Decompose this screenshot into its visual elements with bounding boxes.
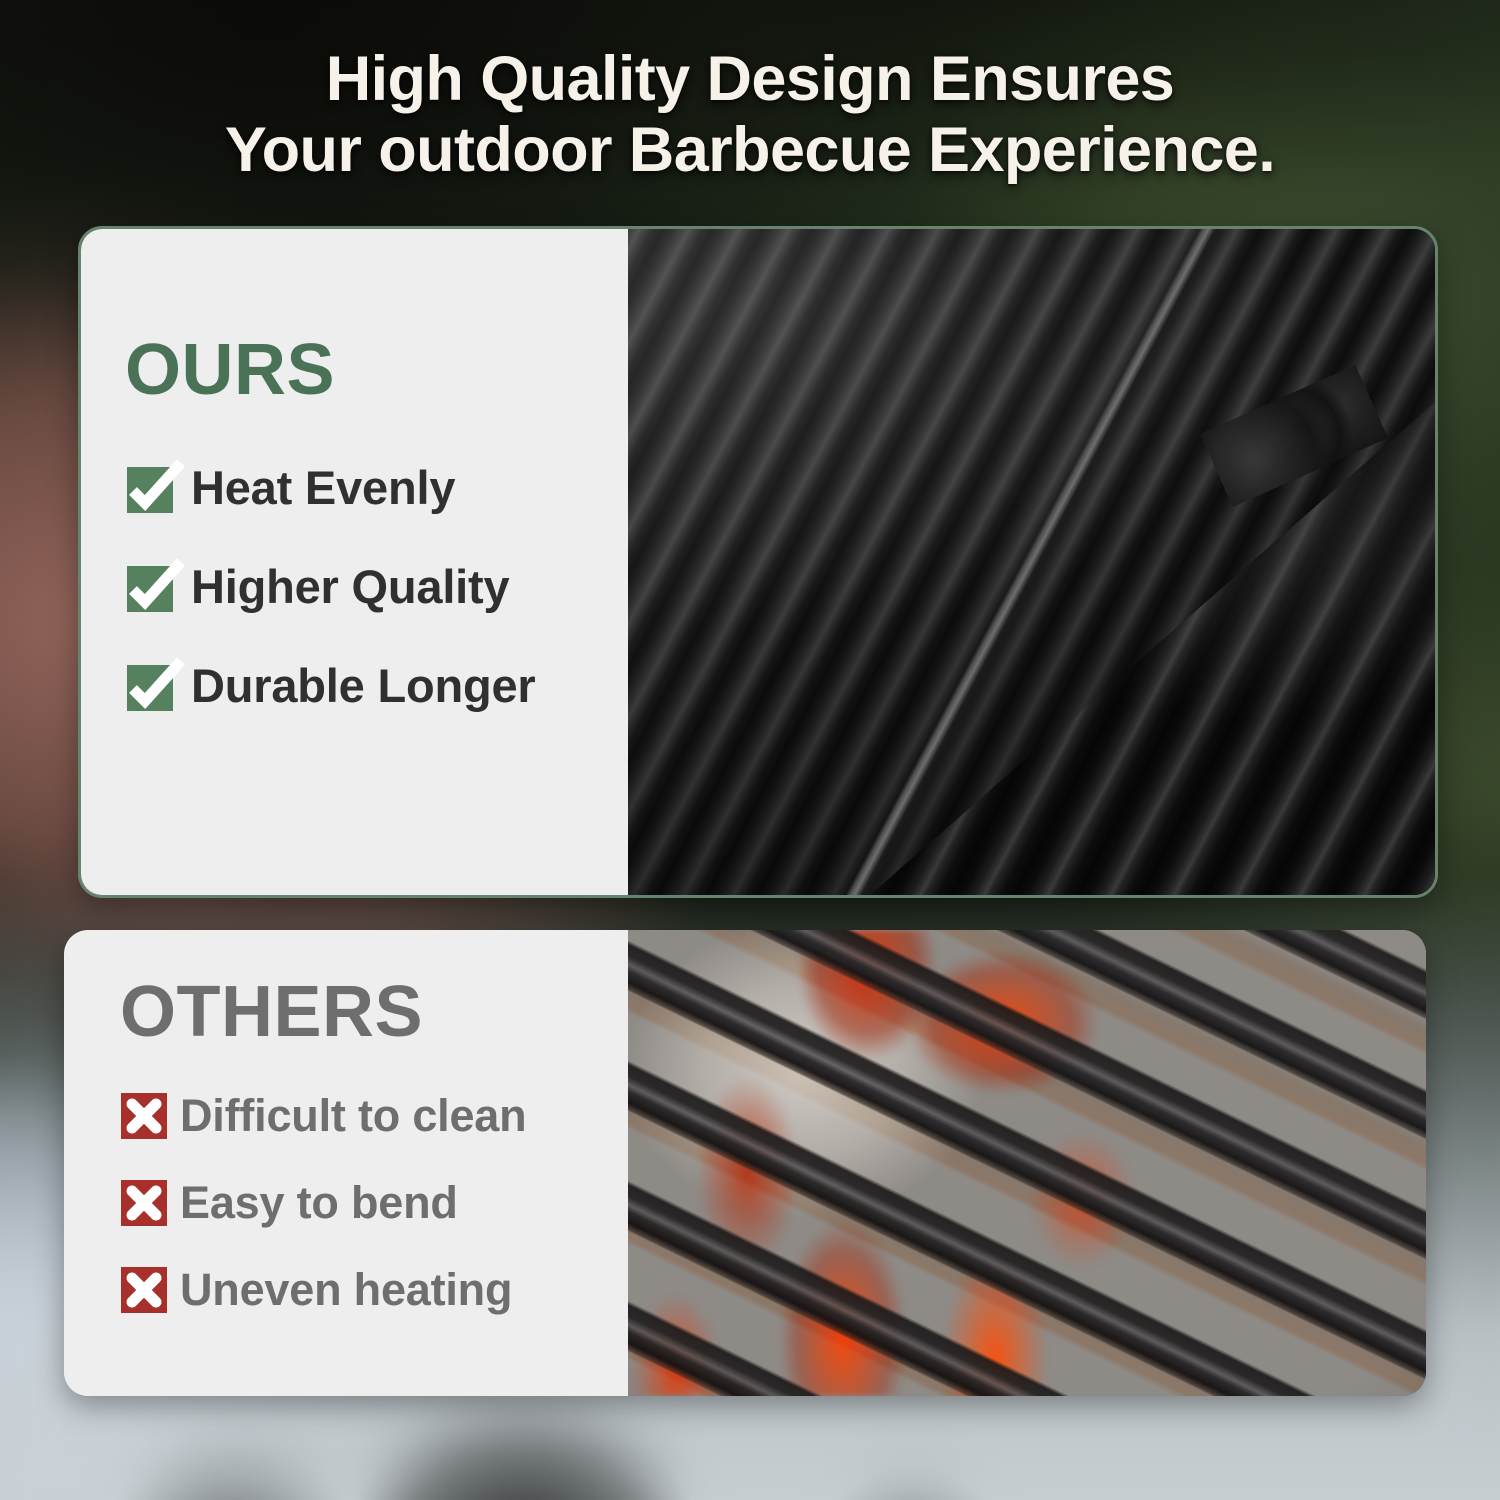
ours-heading: OURS: [125, 334, 628, 406]
others-panel: OTHERS Difficult to clean: [64, 930, 628, 1396]
feature-label: Uneven heating: [180, 1264, 512, 1316]
ours-panel: OURS Heat Evenly Higher Qu: [81, 229, 628, 895]
check-icon: [125, 560, 179, 614]
headline-line-1: High Quality Design Ensures: [326, 44, 1174, 114]
ribbed-black-grill-plate-photo: [628, 229, 1435, 895]
cross-icon: [120, 1092, 168, 1140]
feature-label: Difficult to clean: [180, 1090, 526, 1142]
comparison-card-ours: OURS Heat Evenly Higher Qu: [78, 226, 1438, 898]
list-item: Durable Longer: [125, 658, 628, 713]
list-item: Easy to bend: [120, 1177, 628, 1229]
list-item: Higher Quality: [125, 559, 628, 614]
photo-vignette: [628, 930, 1426, 1396]
check-icon: [125, 461, 179, 515]
cross-icon: [120, 1266, 168, 1314]
ours-feature-list: Heat Evenly Higher Quality: [125, 460, 628, 713]
headline-line-2: Your outdoor Barbecue Experience.: [60, 115, 1440, 186]
check-icon: [125, 659, 179, 713]
cross-icon: [120, 1179, 168, 1227]
list-item: Uneven heating: [120, 1264, 628, 1316]
list-item: Heat Evenly: [125, 460, 628, 515]
rusty-charcoal-grill-grate-photo: [628, 930, 1426, 1396]
list-item: Difficult to clean: [120, 1090, 628, 1142]
feature-label: Higher Quality: [191, 559, 509, 614]
feature-label: Easy to bend: [180, 1177, 458, 1229]
page-title: High Quality Design Ensures Your outdoor…: [0, 44, 1500, 185]
feature-label: Heat Evenly: [191, 460, 455, 515]
others-feature-list: Difficult to clean Easy to bend: [120, 1090, 628, 1316]
others-heading: OTHERS: [120, 976, 628, 1048]
photo-vignette: [628, 229, 1435, 895]
comparison-card-others: OTHERS Difficult to clean: [64, 930, 1426, 1396]
feature-label: Durable Longer: [191, 658, 536, 713]
